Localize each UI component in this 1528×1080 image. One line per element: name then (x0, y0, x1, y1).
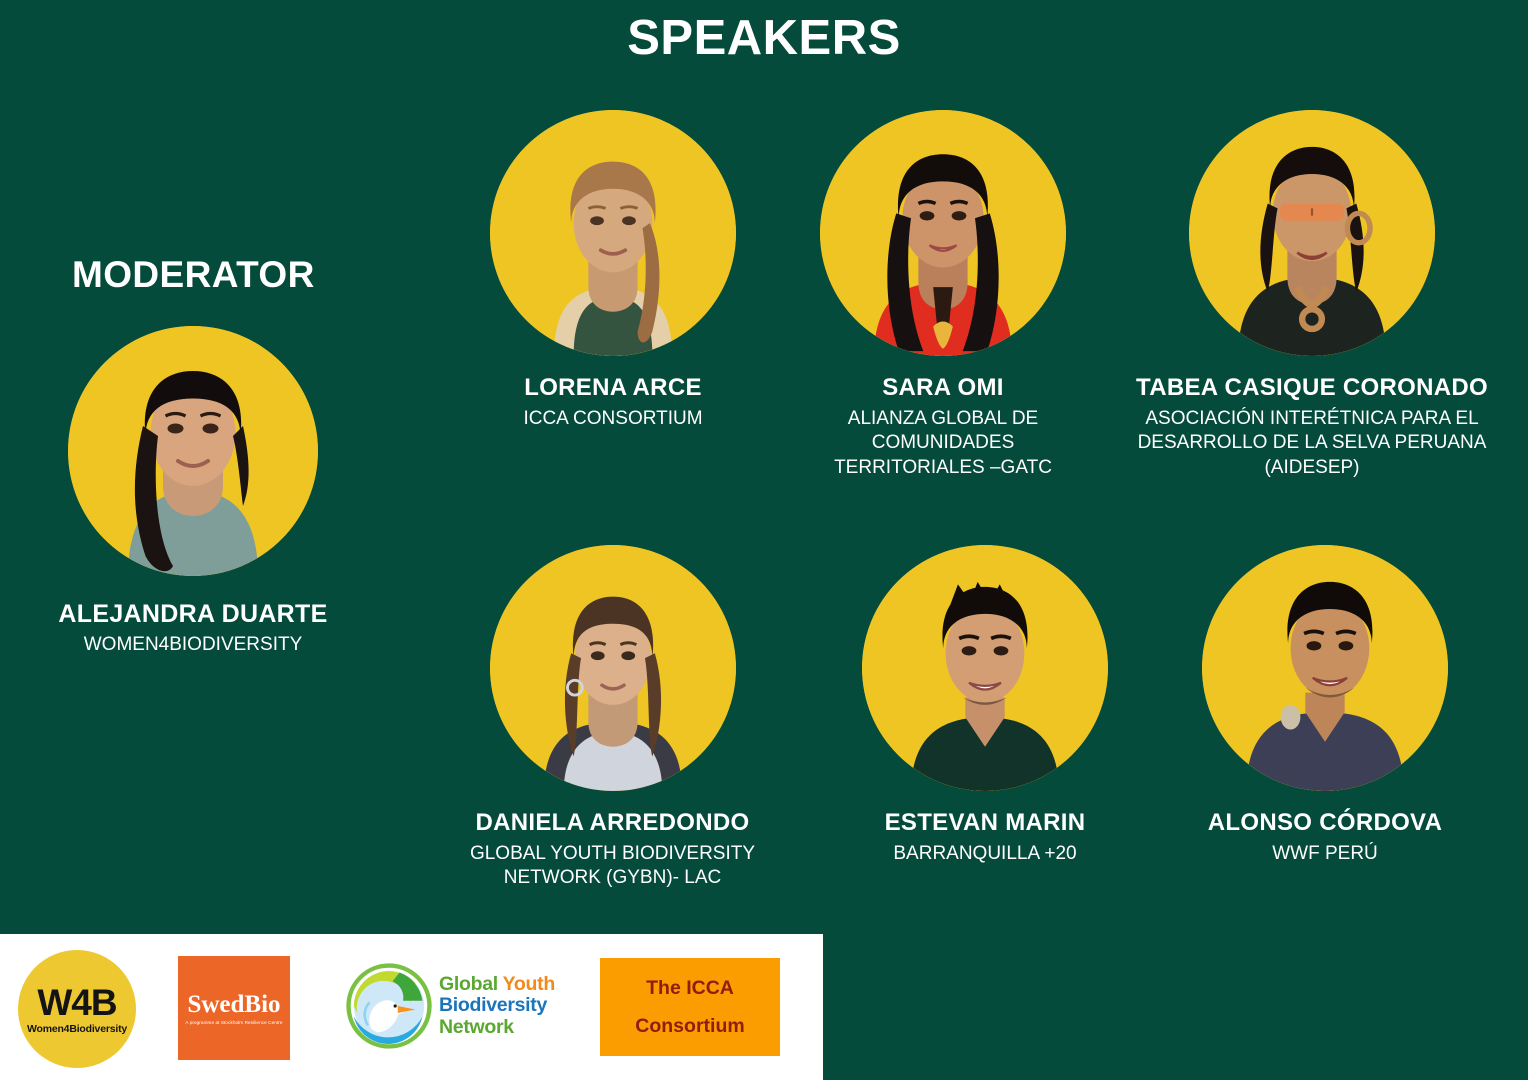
portrait-estevan-marin-image (862, 545, 1108, 791)
speaker-card-daniela-arredondo: DANIELA ARREDONDO GLOBAL YOUTH BIODIVERS… (455, 545, 770, 891)
moderator-card: ALEJANDRA DUARTE WOMEN4BIODIVERSITY (28, 326, 358, 657)
avatar (490, 545, 736, 791)
swedbio-tagline: A programme at Stockholm Resilience Cent… (185, 1020, 282, 1025)
logo-gybn: Global Youth Biodiversity Network (345, 960, 570, 1052)
person-org: WOMEN4BIODIVERSITY (28, 633, 358, 657)
portrait-alejandra-duarte-image (68, 326, 318, 576)
page-title: SPEAKERS (0, 14, 1528, 63)
person-org: ICCA CONSORTIUM (463, 407, 763, 431)
speaker-card-sara-omi: SARA OMI ALIANZA GLOBAL DE COMUNIDADES T… (808, 110, 1078, 480)
avatar (1189, 110, 1435, 356)
moderator-heading: MODERATOR (72, 254, 315, 296)
gybn-line-3: Network (439, 1017, 555, 1038)
person-name: ALONSO CÓRDOVA (1185, 810, 1465, 837)
logo-icca-consortium: The ICCA Consortium (600, 958, 780, 1056)
person-name: LORENA ARCE (463, 375, 763, 402)
speaker-card-tabea-casique-coronado: TABEA CASIQUE CORONADO ASOCIACIÓN INTERÉ… (1122, 110, 1502, 480)
avatar (1202, 545, 1448, 791)
speaker-card-estevan-marin: ESTEVAN MARIN BARRANQUILLA +20 (845, 545, 1125, 866)
person-name: ALEJANDRA DUARTE (28, 600, 358, 628)
w4b-wordmark: W4B (37, 984, 116, 1021)
logo-swedbio: SwedBio A programme at Stockholm Resilie… (178, 956, 290, 1060)
person-name: DANIELA ARREDONDO (455, 810, 770, 837)
avatar (862, 545, 1108, 791)
portrait-daniela-arredondo-image (490, 545, 736, 791)
person-org: ALIANZA GLOBAL DE COMUNIDADES TERRITORIA… (808, 407, 1078, 480)
portrait-alonso-cordova-image (1202, 545, 1448, 791)
w4b-tagline: Women4Biodiversity (27, 1023, 127, 1035)
icca-line-1: The ICCA (646, 978, 734, 998)
person-org: GLOBAL YOUTH BIODIVERSITY NETWORK (GYBN)… (455, 842, 770, 891)
person-name: TABEA CASIQUE CORONADO (1122, 375, 1502, 402)
gybn-line-2: Biodiversity (439, 995, 555, 1016)
person-org: BARRANQUILLA +20 (845, 842, 1125, 866)
poster-canvas: SPEAKERS MODERATOR (0, 0, 1528, 1080)
logo-women4biodiversity: W4B Women4Biodiversity (18, 950, 136, 1068)
speaker-card-alonso-cordova: ALONSO CÓRDOVA WWF PERÚ (1185, 545, 1465, 866)
person-name: SARA OMI (808, 375, 1078, 402)
gybn-wordmark: Global Youth Biodiversity Network (439, 974, 555, 1037)
icca-line-2: Consortium (635, 1016, 744, 1036)
person-name: ESTEVAN MARIN (845, 810, 1125, 837)
person-org: ASOCIACIÓN INTERÉTNICA PARA EL DESARROLL… (1122, 407, 1502, 480)
avatar (490, 110, 736, 356)
gybn-bird-emblem-icon (345, 962, 433, 1050)
portrait-lorena-arce-image (490, 110, 736, 356)
avatar (68, 326, 318, 576)
speaker-card-lorena-arce: LORENA ARCE ICCA CONSORTIUM (463, 110, 763, 431)
swedbio-wordmark: SwedBio (187, 992, 280, 1017)
gybn-line-1: Global Youth (439, 974, 555, 995)
portrait-sara-omi-image (820, 110, 1066, 356)
avatar (820, 110, 1066, 356)
person-org: WWF PERÚ (1185, 842, 1465, 866)
portrait-tabea-casique-coronado-image (1189, 110, 1435, 356)
